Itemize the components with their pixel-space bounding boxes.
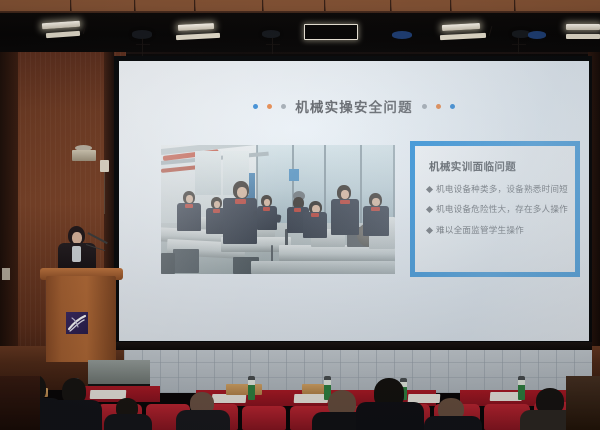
panel-heading: 机械实训面临问题 <box>429 159 565 174</box>
bullet-item: 机电设备种类多，设备熟悉时间短 <box>427 185 565 194</box>
workshop-sign <box>289 169 299 181</box>
water-bottle <box>248 376 255 400</box>
stage-light <box>178 23 214 31</box>
stage-light <box>566 24 600 30</box>
slide-text-panel: 机械实训面临问题 机电设备种类多，设备熟悉时间短 机电设备危险性大，存在多人操作… <box>410 141 580 277</box>
diamond-bullet-icon <box>426 186 433 193</box>
diamond-bullet-icon <box>426 227 433 234</box>
title-dot-blue-left <box>253 104 258 109</box>
bullet-item: 机电设备危险性大，存在多人操作 <box>427 205 565 214</box>
wall-panel-box <box>100 160 109 172</box>
wall-plate <box>2 268 10 280</box>
podium-logo <box>66 312 88 334</box>
paper-sheet <box>90 390 127 399</box>
stage-light <box>46 31 80 38</box>
slide-photo-workshop <box>161 145 395 274</box>
notebook <box>302 384 324 394</box>
title-dot-orange-left <box>267 104 272 109</box>
notebook <box>226 384 262 395</box>
slide-title: 机械实操安全问题 <box>295 96 413 116</box>
wall-cord <box>104 172 105 214</box>
stage-light <box>176 33 220 40</box>
wall-speaker-fixture <box>72 150 96 161</box>
stage-light <box>304 24 358 40</box>
stage-light <box>440 33 486 40</box>
title-dot-gray-right <box>422 104 427 109</box>
slide-title-row: 机械实操安全问题 <box>119 95 589 117</box>
bullet-item: 难以全面监管学生操作 <box>427 226 565 235</box>
auditorium-seat <box>242 406 286 430</box>
spotlight-fixture <box>392 31 412 39</box>
stage-light <box>442 23 480 31</box>
wall-shadow-left <box>0 52 18 382</box>
speaker-shirt <box>72 246 81 262</box>
bullet-text: 机电设备危险性大，存在多人操作 <box>436 205 568 214</box>
stage-light <box>566 34 600 39</box>
bullet-text: 机电设备种类多，设备熟悉时间短 <box>436 185 568 194</box>
projection-screen: 机械实操安全问题 <box>119 61 589 341</box>
title-dot-blue-right <box>450 104 455 109</box>
spotlight-fixture <box>262 30 280 38</box>
stage-light <box>42 21 80 30</box>
paper-sheet <box>212 394 247 403</box>
auditorium-photo: 机械实操安全问题 <box>0 0 600 430</box>
audience-area <box>0 376 600 430</box>
screen-bottom-edge <box>114 342 592 350</box>
title-dot-orange-right <box>436 104 441 109</box>
diamond-bullet-icon <box>426 206 433 213</box>
water-bottle <box>518 376 525 400</box>
bullet-text: 难以全面监管学生操作 <box>436 226 524 235</box>
title-dot-gray-left <box>281 104 286 109</box>
spotlight-fixture <box>528 31 546 39</box>
